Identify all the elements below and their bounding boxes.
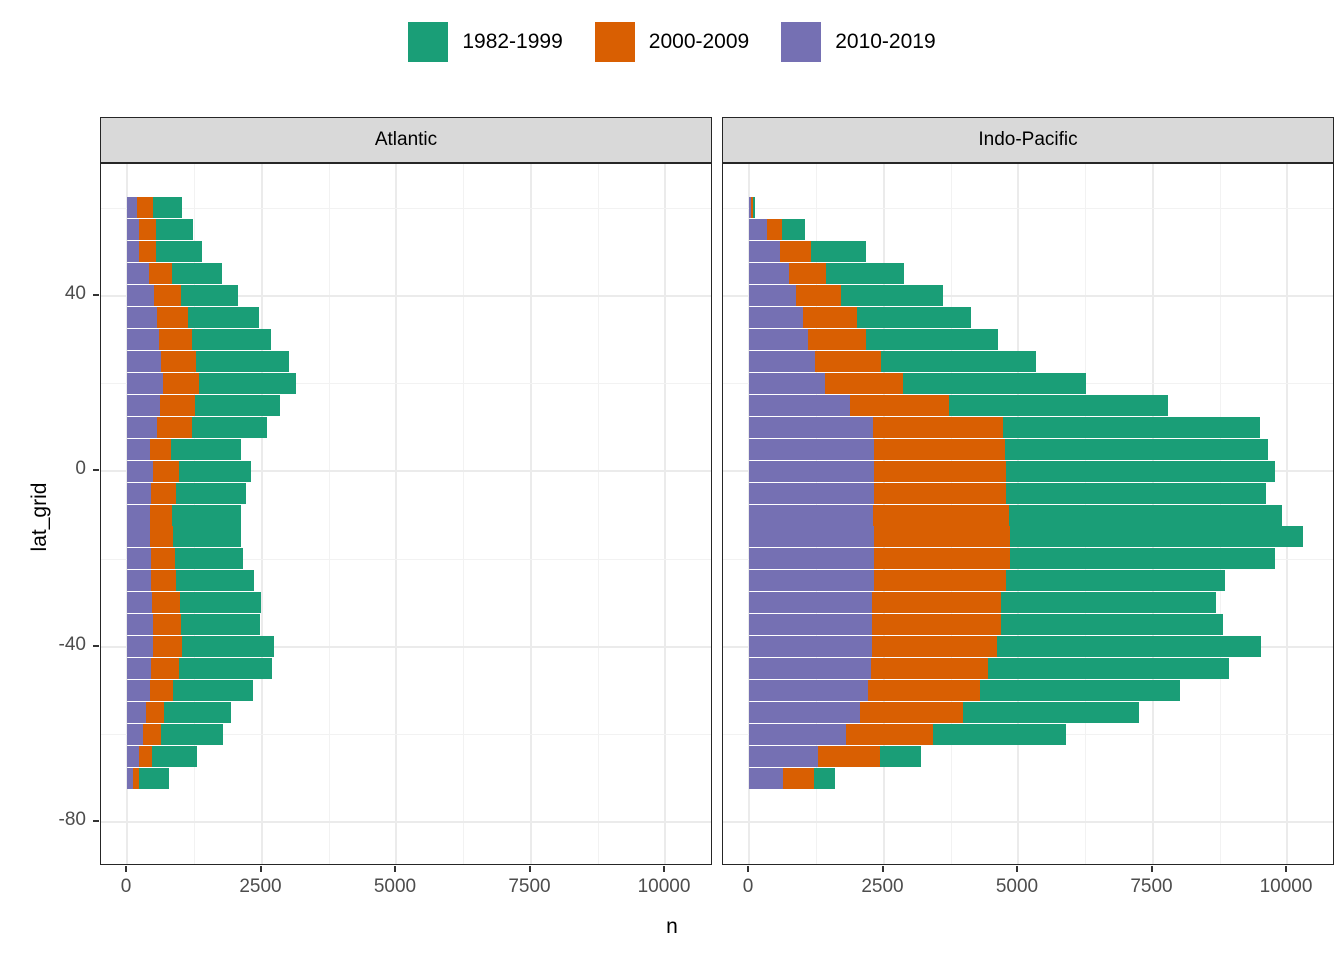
bar-segment[interactable] xyxy=(749,263,789,284)
bar-row[interactable] xyxy=(723,263,1333,284)
bar-segment[interactable] xyxy=(1003,417,1260,438)
bar-segment[interactable] xyxy=(749,439,874,460)
bar-segment[interactable] xyxy=(179,658,273,679)
x-axis-tick-label: 0 xyxy=(66,876,186,898)
bar-row[interactable] xyxy=(723,439,1333,460)
bar-segment[interactable] xyxy=(874,439,1005,460)
bar-segment[interactable] xyxy=(749,614,872,635)
bar-segment[interactable] xyxy=(172,263,222,284)
bar-row[interactable] xyxy=(723,461,1333,482)
bar-row[interactable] xyxy=(101,307,711,328)
bar-segment[interactable] xyxy=(749,592,872,613)
plot-area-indo-pacific xyxy=(722,163,1334,865)
bar-segment[interactable] xyxy=(181,285,237,306)
legend-item-0[interactable]: 1982-1999 xyxy=(408,22,562,62)
bar-segment[interactable] xyxy=(127,307,157,328)
bar-segment[interactable] xyxy=(874,548,1011,569)
bar-row[interactable] xyxy=(723,307,1333,328)
bar-row[interactable] xyxy=(723,746,1333,767)
bar-segment[interactable] xyxy=(127,219,139,240)
x-axis-tick-label: 2500 xyxy=(201,876,321,898)
bar-segment[interactable] xyxy=(860,702,962,723)
legend-item-label: 2000-2009 xyxy=(649,30,749,54)
bar-segment[interactable] xyxy=(749,417,873,438)
bar-segment[interactable] xyxy=(872,592,1001,613)
legend-item-label: 2010-2019 xyxy=(835,30,935,54)
y-axis-tick-label: 40 xyxy=(0,283,86,305)
bar-row[interactable] xyxy=(101,768,711,789)
bar-segment[interactable] xyxy=(127,439,150,460)
bar-segment[interactable] xyxy=(963,702,1139,723)
bar-segment[interactable] xyxy=(176,570,253,591)
bar-segment[interactable] xyxy=(749,658,871,679)
bar-segment[interactable] xyxy=(749,307,803,328)
bar-segment[interactable] xyxy=(127,285,154,306)
axis-title-y: lat_grid xyxy=(28,447,52,587)
bar-segment[interactable] xyxy=(1005,439,1268,460)
bar-row[interactable] xyxy=(101,263,711,284)
bar-segment[interactable] xyxy=(127,329,159,350)
bar-segment[interactable] xyxy=(749,241,780,262)
bar-row[interactable] xyxy=(723,505,1333,526)
legend-item-2[interactable]: 2010-2019 xyxy=(781,22,935,62)
bar-segment[interactable] xyxy=(127,746,139,767)
bar-segment[interactable] xyxy=(749,505,873,526)
bar-segment[interactable] xyxy=(192,329,271,350)
bar-segment[interactable] xyxy=(157,417,191,438)
bar-segment[interactable] xyxy=(749,570,874,591)
x-axis-tick-mark xyxy=(260,866,262,872)
bar-segment[interactable] xyxy=(181,614,261,635)
bar-segment[interactable] xyxy=(127,548,151,569)
bar-segment[interactable] xyxy=(749,768,783,789)
bar-segment[interactable] xyxy=(153,197,182,218)
bar-row[interactable] xyxy=(723,483,1333,504)
bar-segment[interactable] xyxy=(150,505,173,526)
bar-segment[interactable] xyxy=(1001,592,1216,613)
bar-segment[interactable] xyxy=(127,263,149,284)
bar-segment[interactable] xyxy=(796,285,841,306)
x-axis-tick-mark xyxy=(1151,866,1153,872)
bar-row[interactable] xyxy=(723,241,1333,262)
bar-row[interactable] xyxy=(101,285,711,306)
bar-segment[interactable] xyxy=(749,461,874,482)
bar-segment[interactable] xyxy=(874,526,1010,547)
bar-segment[interactable] xyxy=(179,461,252,482)
bar-segment[interactable] xyxy=(749,724,846,745)
bar-row[interactable] xyxy=(101,592,711,613)
bar-row[interactable] xyxy=(101,570,711,591)
bar-segment[interactable] xyxy=(127,483,151,504)
bar-segment[interactable] xyxy=(749,373,825,394)
panel-header-atlantic-label: Atlantic xyxy=(375,129,437,151)
bar-segment[interactable] xyxy=(127,658,151,679)
bar-segment[interactable] xyxy=(160,395,195,416)
y-axis-tick-mark xyxy=(93,645,99,647)
bar-segment[interactable] xyxy=(153,636,182,657)
bar-segment[interactable] xyxy=(127,526,150,547)
bar-segment[interactable] xyxy=(153,461,179,482)
bar-segment[interactable] xyxy=(749,395,850,416)
bar-segment[interactable] xyxy=(872,636,997,657)
bar-segment[interactable] xyxy=(789,263,826,284)
legend: 1982-19992000-20092010-2019 xyxy=(0,22,1344,62)
x-axis-tick-mark xyxy=(125,866,127,872)
bar-segment[interactable] xyxy=(850,395,948,416)
bar-row[interactable] xyxy=(723,658,1333,679)
y-axis-tick-mark xyxy=(93,820,99,822)
bar-row[interactable] xyxy=(101,526,711,547)
bar-segment[interactable] xyxy=(146,702,164,723)
bar-segment[interactable] xyxy=(175,548,243,569)
bar-segment[interactable] xyxy=(749,219,767,240)
bar-segment[interactable] xyxy=(163,373,200,394)
bar-segment[interactable] xyxy=(153,614,181,635)
bar-segment[interactable] xyxy=(172,505,241,526)
bar-segment[interactable] xyxy=(127,614,153,635)
bar-segment[interactable] xyxy=(152,592,180,613)
bar-segment[interactable] xyxy=(872,614,1001,635)
bar-segment[interactable] xyxy=(1001,614,1223,635)
bar-row[interactable] xyxy=(723,373,1333,394)
bar-segment[interactable] xyxy=(873,505,1009,526)
bar-segment[interactable] xyxy=(980,680,1181,701)
bar-segment[interactable] xyxy=(127,417,157,438)
bar-segment[interactable] xyxy=(933,724,1066,745)
bar-row[interactable] xyxy=(723,614,1333,635)
gridline-major-horizontal xyxy=(101,821,711,823)
bar-segment[interactable] xyxy=(151,548,175,569)
bar-segment[interactable] xyxy=(127,592,152,613)
bar-segment[interactable] xyxy=(749,285,796,306)
bar-row[interactable] xyxy=(101,483,711,504)
bar-segment[interactable] xyxy=(137,197,153,218)
bar-segment[interactable] xyxy=(150,439,171,460)
y-axis-tick-mark xyxy=(93,294,99,296)
panel-header-indo-pacific-label: Indo-Pacific xyxy=(978,129,1077,151)
bar-segment[interactable] xyxy=(164,702,231,723)
bar-row[interactable] xyxy=(723,417,1333,438)
x-axis-tick-label: 5000 xyxy=(957,876,1077,898)
legend-swatch-icon xyxy=(408,22,448,62)
bar-segment[interactable] xyxy=(818,746,880,767)
panel-header-atlantic: Atlantic xyxy=(100,117,712,163)
bar-row[interactable] xyxy=(723,702,1333,723)
bar-segment[interactable] xyxy=(156,219,193,240)
bar-segment[interactable] xyxy=(171,439,240,460)
bar-segment[interactable] xyxy=(749,702,860,723)
bar-segment[interactable] xyxy=(826,263,904,284)
bar-segment[interactable] xyxy=(196,351,289,372)
bar-row[interactable] xyxy=(723,395,1333,416)
bar-segment[interactable] xyxy=(1006,570,1224,591)
bar-segment[interactable] xyxy=(749,329,808,350)
bar-segment[interactable] xyxy=(139,241,156,262)
bar-segment[interactable] xyxy=(871,658,988,679)
bar-segment[interactable] xyxy=(780,241,811,262)
bar-segment[interactable] xyxy=(874,483,1006,504)
bar-row[interactable] xyxy=(723,768,1333,789)
bar-row[interactable] xyxy=(101,680,711,701)
legend-item-label: 1982-1999 xyxy=(462,30,562,54)
bar-row[interactable] xyxy=(101,636,711,657)
bar-segment[interactable] xyxy=(1010,526,1303,547)
y-axis-tick-label: -80 xyxy=(0,809,86,831)
bar-segment[interactable] xyxy=(149,263,172,284)
bar-segment[interactable] xyxy=(127,197,137,218)
bar-row[interactable] xyxy=(101,329,711,350)
bar-row[interactable] xyxy=(101,614,711,635)
bar-segment[interactable] xyxy=(1010,548,1274,569)
bar-segment[interactable] xyxy=(161,351,195,372)
bar-segment[interactable] xyxy=(825,373,902,394)
bar-row[interactable] xyxy=(723,724,1333,745)
bar-segment[interactable] xyxy=(841,285,943,306)
bar-segment[interactable] xyxy=(157,307,188,328)
bar-segment[interactable] xyxy=(857,307,972,328)
bar-segment[interactable] xyxy=(782,219,805,240)
bar-row[interactable] xyxy=(101,548,711,569)
x-axis-tick-mark xyxy=(747,866,749,872)
bar-segment[interactable] xyxy=(139,219,156,240)
bar-segment[interactable] xyxy=(139,768,169,789)
bar-segment[interactable] xyxy=(881,351,1036,372)
x-axis-tick-mark xyxy=(394,866,396,872)
bar-segment[interactable] xyxy=(767,219,782,240)
bar-segment[interactable] xyxy=(127,505,150,526)
bar-segment[interactable] xyxy=(997,636,1261,657)
bar-segment[interactable] xyxy=(808,329,867,350)
bar-row[interactable] xyxy=(101,724,711,745)
bar-segment[interactable] xyxy=(749,636,872,657)
bar-segment[interactable] xyxy=(127,395,160,416)
bar-segment[interactable] xyxy=(127,724,143,745)
panel-header-indo-pacific: Indo-Pacific xyxy=(722,117,1334,163)
bar-row[interactable] xyxy=(723,636,1333,657)
axis-title-x: n xyxy=(0,915,1344,939)
bar-row[interactable] xyxy=(723,548,1333,569)
bar-row[interactable] xyxy=(723,197,1333,218)
x-axis-tick-label: 10000 xyxy=(1226,876,1344,898)
bar-row[interactable] xyxy=(723,329,1333,350)
bar-segment[interactable] xyxy=(868,680,979,701)
bar-row[interactable] xyxy=(723,285,1333,306)
bar-row[interactable] xyxy=(101,241,711,262)
bar-segment[interactable] xyxy=(811,241,866,262)
bar-row[interactable] xyxy=(723,219,1333,240)
bar-segment[interactable] xyxy=(749,680,868,701)
x-axis-tick-label: 7500 xyxy=(1092,876,1212,898)
y-axis-tick-label: -40 xyxy=(0,634,86,656)
gridline-major-horizontal xyxy=(723,821,1333,823)
bar-segment[interactable] xyxy=(127,461,153,482)
legend-item-1[interactable]: 2000-2009 xyxy=(595,22,749,62)
bar-segment[interactable] xyxy=(127,241,139,262)
bar-row[interactable] xyxy=(101,197,711,218)
bar-segment[interactable] xyxy=(815,351,881,372)
x-axis-tick-label: 0 xyxy=(688,876,808,898)
bar-segment[interactable] xyxy=(783,768,814,789)
bar-segment[interactable] xyxy=(846,724,933,745)
bar-segment[interactable] xyxy=(143,724,161,745)
bar-row[interactable] xyxy=(101,461,711,482)
bar-segment[interactable] xyxy=(749,548,874,569)
bar-row[interactable] xyxy=(723,526,1333,547)
bar-segment[interactable] xyxy=(173,526,241,547)
bar-segment[interactable] xyxy=(156,241,202,262)
chart-root: 1982-19992000-20092010-2019 Atlantic Ind… xyxy=(0,0,1344,960)
bar-row[interactable] xyxy=(101,417,711,438)
bar-row[interactable] xyxy=(723,351,1333,372)
x-axis-tick-mark xyxy=(529,866,531,872)
bar-segment[interactable] xyxy=(150,680,174,701)
plot-area-atlantic xyxy=(100,163,712,865)
bar-row[interactable] xyxy=(101,373,711,394)
bar-segment[interactable] xyxy=(188,307,258,328)
bar-segment[interactable] xyxy=(1009,505,1282,526)
bar-segment[interactable] xyxy=(150,526,173,547)
bar-segment[interactable] xyxy=(151,483,176,504)
bar-segment[interactable] xyxy=(127,702,146,723)
bar-segment[interactable] xyxy=(873,417,1003,438)
y-axis-tick-mark xyxy=(93,469,99,471)
x-axis-tick-mark xyxy=(1285,866,1287,872)
bar-segment[interactable] xyxy=(1006,483,1266,504)
bar-row[interactable] xyxy=(101,395,711,416)
bar-segment[interactable] xyxy=(1006,461,1274,482)
bar-segment[interactable] xyxy=(199,373,296,394)
x-axis-tick-mark xyxy=(663,866,665,872)
bar-segment[interactable] xyxy=(803,307,857,328)
bar-segment[interactable] xyxy=(753,197,755,218)
bar-segment[interactable] xyxy=(127,680,150,701)
bar-row[interactable] xyxy=(101,439,711,460)
bar-segment[interactable] xyxy=(173,680,253,701)
bar-row[interactable] xyxy=(101,351,711,372)
legend-swatch-icon xyxy=(781,22,821,62)
bar-segment[interactable] xyxy=(874,570,1006,591)
bar-segment[interactable] xyxy=(749,526,874,547)
bar-segment[interactable] xyxy=(151,570,176,591)
bar-segment[interactable] xyxy=(749,746,818,767)
x-axis-tick-label: 5000 xyxy=(335,876,455,898)
bar-segment[interactable] xyxy=(139,746,151,767)
bar-segment[interactable] xyxy=(151,658,178,679)
bar-row[interactable] xyxy=(101,219,711,240)
bar-segment[interactable] xyxy=(127,373,163,394)
bar-segment[interactable] xyxy=(195,395,281,416)
bar-segment[interactable] xyxy=(180,592,261,613)
bar-segment[interactable] xyxy=(988,658,1229,679)
bar-segment[interactable] xyxy=(749,483,874,504)
bar-row[interactable] xyxy=(723,680,1333,701)
bar-segment[interactable] xyxy=(903,373,1086,394)
bar-row[interactable] xyxy=(101,702,711,723)
bar-segment[interactable] xyxy=(182,636,274,657)
bar-segment[interactable] xyxy=(814,768,834,789)
bar-segment[interactable] xyxy=(152,746,198,767)
bar-segment[interactable] xyxy=(127,570,151,591)
x-axis-tick-mark xyxy=(1016,866,1018,872)
bar-segment[interactable] xyxy=(127,351,161,372)
x-axis-tick-label: 7500 xyxy=(470,876,590,898)
x-axis-tick-mark xyxy=(882,866,884,872)
bar-row[interactable] xyxy=(723,592,1333,613)
bar-segment[interactable] xyxy=(874,461,1006,482)
bar-row[interactable] xyxy=(723,570,1333,591)
bar-segment[interactable] xyxy=(159,329,192,350)
bar-segment[interactable] xyxy=(749,351,815,372)
bar-segment[interactable] xyxy=(866,329,997,350)
bar-segment[interactable] xyxy=(880,746,921,767)
bar-row[interactable] xyxy=(101,505,711,526)
bar-segment[interactable] xyxy=(176,483,245,504)
bar-segment[interactable] xyxy=(949,395,1169,416)
bar-row[interactable] xyxy=(101,746,711,767)
x-axis-tick-label: 2500 xyxy=(823,876,943,898)
bar-segment[interactable] xyxy=(192,417,268,438)
bar-segment[interactable] xyxy=(154,285,181,306)
bar-segment[interactable] xyxy=(127,636,153,657)
legend-swatch-icon xyxy=(595,22,635,62)
bar-row[interactable] xyxy=(101,658,711,679)
bar-segment[interactable] xyxy=(161,724,223,745)
